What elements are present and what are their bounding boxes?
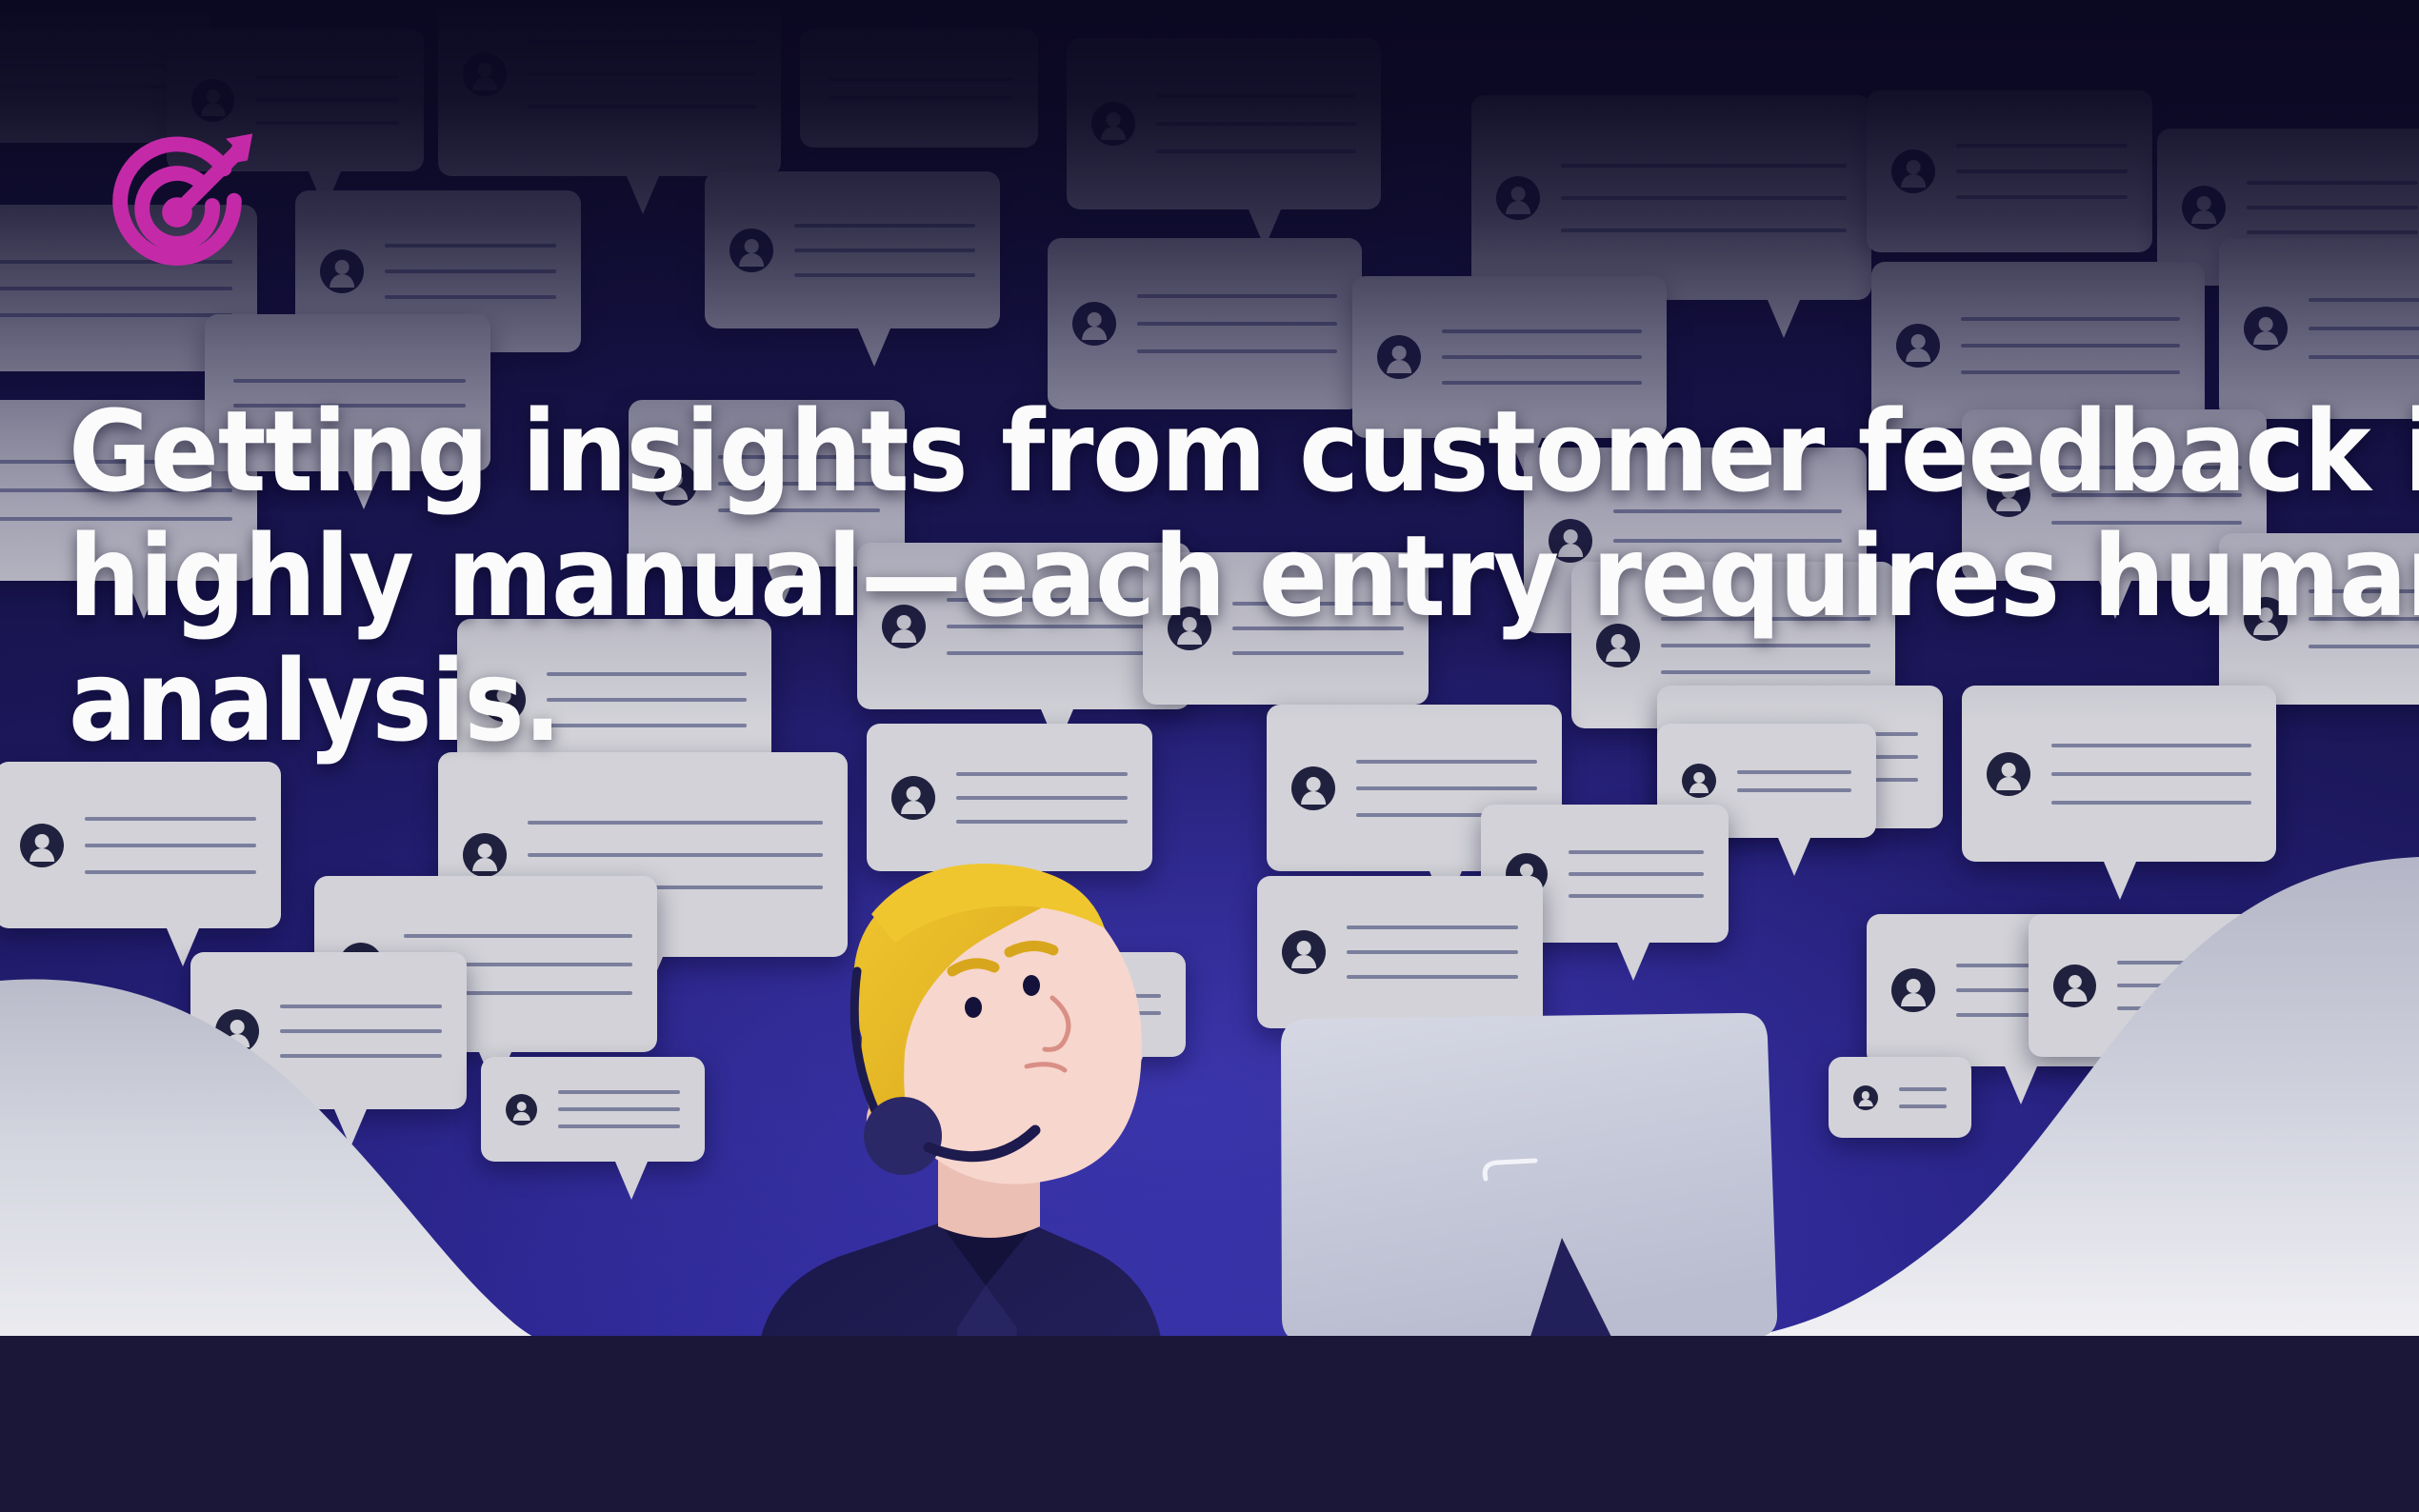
avatar-icon xyxy=(463,52,507,96)
speech-bubble xyxy=(800,29,1038,148)
bubble-text-line xyxy=(1956,144,2128,148)
speech-bubble xyxy=(1029,952,1186,1057)
bubble-text-line xyxy=(0,64,185,68)
bubble-text-line xyxy=(233,379,466,383)
bubble-text-line xyxy=(829,96,1013,100)
bubble-text-line xyxy=(1961,370,2180,374)
avatar-icon xyxy=(1853,1085,1878,1110)
avatar-icon xyxy=(215,1009,259,1053)
bubble-tail xyxy=(1768,300,1800,338)
bubble-text-line xyxy=(2309,355,2419,359)
bubble-text-line xyxy=(255,98,399,102)
bubble-text-line xyxy=(2247,206,2418,209)
bubble-text-line xyxy=(528,72,756,76)
bubble-text-line xyxy=(1569,894,1704,898)
bubble-tail xyxy=(2005,1066,2037,1104)
bubble-text-line xyxy=(385,269,556,273)
speech-bubble xyxy=(481,1057,705,1162)
avatar-icon xyxy=(1091,102,1135,146)
bubble-text-line xyxy=(558,1124,680,1128)
bubble-text-line xyxy=(0,85,185,89)
bubble-text-line xyxy=(1442,355,1642,359)
target-bullseye-arrow-logo[interactable] xyxy=(93,122,261,289)
avatar-icon xyxy=(1282,930,1326,974)
bubble-text-line xyxy=(255,121,399,125)
avatar-icon xyxy=(891,776,935,820)
bubble-text-line xyxy=(2309,645,2419,648)
bubble-text-line xyxy=(558,1107,680,1111)
bubble-text-line xyxy=(1137,349,1337,353)
bubble-text-line xyxy=(2309,327,2419,330)
bubble-text-line xyxy=(1956,169,2128,173)
bubble-text-line xyxy=(956,796,1128,800)
bubble-text-line xyxy=(794,224,975,228)
bubble-tail xyxy=(1400,1028,1432,1066)
speech-bubble xyxy=(0,762,281,928)
bubble-text-line xyxy=(794,273,975,277)
bubble-text-line xyxy=(0,313,232,317)
bubble-text-line xyxy=(1561,229,1847,232)
bubble-text-line xyxy=(255,75,399,79)
bubble-text-line xyxy=(1106,994,1161,998)
headline-line-2: highly manual—each entry requires human xyxy=(69,514,2259,639)
bubble-text-line xyxy=(2200,1201,2337,1204)
bubble-text-line xyxy=(1137,294,1337,298)
bubble-text-line xyxy=(956,772,1128,776)
avatar-icon xyxy=(1377,335,1421,379)
avatar-icon xyxy=(1291,766,1335,810)
avatar-icon xyxy=(1072,302,1116,346)
bubble-text-line xyxy=(2247,230,2418,234)
speech-bubble xyxy=(190,952,467,1109)
bubble-text-line xyxy=(558,1090,680,1094)
speech-bubble xyxy=(1048,238,1362,409)
bubble-tail xyxy=(1778,838,1810,876)
avatar-icon xyxy=(2053,965,2096,1007)
speech-bubble xyxy=(1867,90,2152,252)
bubble-tail xyxy=(2104,862,2136,900)
bubble-text-line xyxy=(1137,322,1337,326)
bubble-text-line xyxy=(528,40,756,44)
avatar-icon xyxy=(1053,989,1085,1021)
bubble-text-line xyxy=(1442,381,1642,385)
bubble-text-line xyxy=(1561,196,1847,200)
bubble-text-line xyxy=(1561,164,1847,168)
avatar-icon xyxy=(20,824,64,867)
bubble-text-line xyxy=(2247,181,2418,185)
speech-bubble xyxy=(1829,1057,1971,1138)
bubble-text-line xyxy=(1156,94,1356,98)
bubble-text-line xyxy=(1106,1011,1161,1015)
bubble-text-line xyxy=(85,844,256,847)
bubble-text-line xyxy=(280,1005,442,1008)
avatar-icon xyxy=(1896,324,1940,368)
bubble-tail xyxy=(1010,871,1042,909)
bubble-tail xyxy=(1110,1057,1143,1095)
bubble-text-line xyxy=(85,817,256,821)
bubble-text-line xyxy=(2200,1184,2337,1187)
bubble-text-line xyxy=(1899,1087,1947,1091)
bubble-text-line xyxy=(1156,122,1356,126)
bubble-text-line xyxy=(1961,344,2180,348)
bubble-text-line xyxy=(280,1029,442,1033)
headline-line-3: analysis. xyxy=(69,639,2259,764)
avatar-icon xyxy=(191,79,234,122)
bubble-tail xyxy=(1617,943,1649,981)
bubble-text-line xyxy=(1737,770,1851,774)
bubble-text-line xyxy=(528,853,823,857)
bubble-text-line xyxy=(1899,1104,1947,1108)
bubble-text-line xyxy=(1956,195,2128,199)
bubble-text-line xyxy=(2117,984,2270,987)
avatar-icon xyxy=(1891,968,1935,1012)
bubble-text-line xyxy=(280,1054,442,1058)
bubble-text-line xyxy=(2200,1166,2337,1170)
bubble-text-line xyxy=(1442,329,1642,333)
avatar-icon xyxy=(506,1094,537,1125)
avatar-icon xyxy=(320,249,364,293)
bubble-text-line xyxy=(385,244,556,248)
bubble-text-line xyxy=(385,295,556,299)
speech-bubble xyxy=(1067,38,1381,209)
bubble-text-line xyxy=(2117,961,2270,965)
bubble-text-line xyxy=(1347,950,1518,954)
speech-bubble xyxy=(438,0,781,176)
bubble-text-line xyxy=(1156,149,1356,153)
avatar-icon xyxy=(730,229,773,272)
bubble-tail xyxy=(858,328,890,367)
bubble-tail xyxy=(334,1109,367,1147)
avatar-icon xyxy=(1891,149,1935,193)
bubble-text-line xyxy=(2309,298,2419,302)
bubble-text-line xyxy=(528,821,823,825)
bubble-text-line xyxy=(794,249,975,252)
bottom-bar xyxy=(0,1336,2419,1512)
bubble-text-line xyxy=(1569,872,1704,876)
speech-bubble xyxy=(705,171,1000,328)
speech-bubble xyxy=(1257,876,1543,1028)
bubble-text-line xyxy=(956,820,1128,824)
bubble-text-line xyxy=(1356,786,1537,790)
bubble-tail xyxy=(627,176,659,214)
bubble-text-line xyxy=(2051,801,2251,805)
bubble-text-line xyxy=(2117,1006,2270,1010)
bubble-text-line xyxy=(1961,317,2180,321)
bubble-text-line xyxy=(1569,850,1704,854)
bubble-text-line xyxy=(85,870,256,874)
bubble-text-line xyxy=(528,105,756,109)
bubble-text-line xyxy=(829,77,1013,81)
speech-bubble xyxy=(2171,1143,2362,1228)
page-title: Getting insights from customer feedback … xyxy=(69,389,2259,764)
speech-bubble xyxy=(2029,914,2295,1057)
speech-bubble xyxy=(1471,95,1871,300)
bubble-text-line xyxy=(1347,925,1518,929)
avatar-icon xyxy=(2244,307,2288,350)
bubble-text-line xyxy=(1737,788,1851,792)
avatar-icon xyxy=(463,833,507,877)
bubble-text-line xyxy=(1347,975,1518,979)
bubble-text-line xyxy=(404,934,632,938)
slide-canvas: Getting insights from customer feedback … xyxy=(0,0,2419,1512)
bubble-text-line xyxy=(2051,772,2251,776)
headline-line-1: Getting insights from customer feedback … xyxy=(69,389,2259,514)
avatar-icon xyxy=(1496,176,1540,220)
avatar-icon xyxy=(2182,186,2226,229)
avatar-icon xyxy=(1682,764,1716,798)
bubble-tail xyxy=(615,1162,648,1200)
